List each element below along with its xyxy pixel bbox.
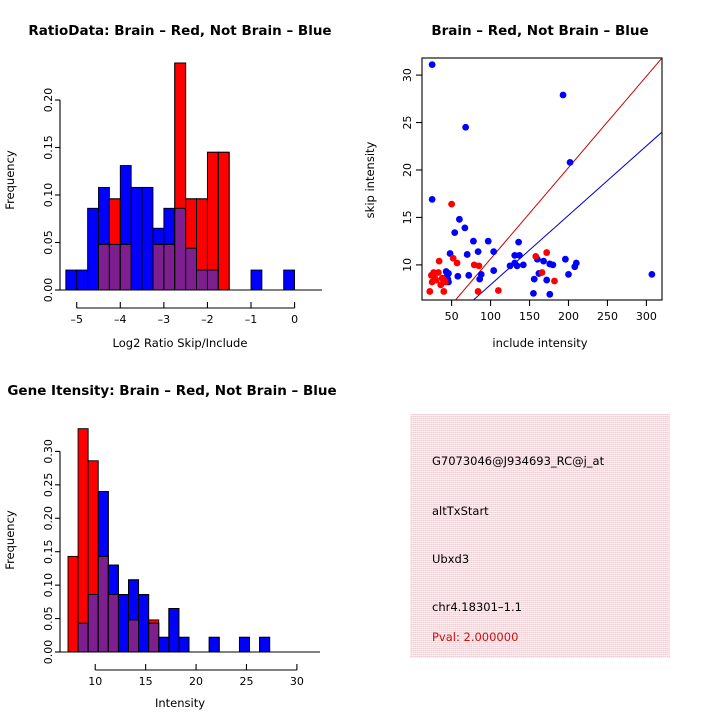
brain-fit-line [456, 58, 662, 300]
histogram-series-overlay [78, 492, 270, 652]
x-axis-tick-label: 100 [480, 310, 501, 323]
scatter-point [571, 263, 578, 270]
x-axis-tick-label: –2 [201, 313, 214, 326]
scatter-point [485, 238, 492, 245]
histogram-bar-overlap [98, 556, 108, 652]
histogram-bar [260, 637, 270, 652]
x-axis-tick-label: 15 [139, 675, 153, 688]
histogram-bar [139, 595, 149, 653]
scatter-point [470, 238, 477, 245]
ratio-plot-area: 0.000.050.100.150.20–5–4–3–2–10 [42, 63, 322, 326]
histogram-bar [109, 199, 120, 245]
info-gene-symbol: Ubxd3 [432, 552, 469, 566]
scatter-svg: Brain – Red, Not Brain – Blue 1015202530… [360, 0, 720, 360]
x-axis-tick-label: 10 [88, 675, 102, 688]
scatter-point [461, 224, 468, 231]
histogram-bar [77, 270, 88, 290]
histogram-bar-overlap [175, 208, 186, 290]
gene-histogram-svg: Gene Itensity: Brain – Red, Not Brain – … [0, 360, 360, 720]
scatter-x-axis-label: include intensity [492, 336, 587, 350]
scatter-point [454, 260, 461, 267]
y-axis-tick-label: 0.05 [42, 230, 55, 255]
histogram-bar [207, 152, 218, 270]
ratio-histogram-svg: RatioData: Brain – Red, Not Brain – Blue… [0, 0, 360, 360]
scatter-point [516, 252, 523, 259]
x-axis-tick-label: –5 [70, 313, 83, 326]
scatter-point [454, 273, 461, 280]
scatter-point [475, 288, 482, 295]
y-axis-tick-label: 25 [401, 116, 414, 130]
scatter-point [451, 229, 458, 236]
scatter-point [490, 267, 497, 274]
histogram-bar [68, 556, 78, 652]
panel-ratio-histogram: RatioData: Brain – Red, Not Brain – Blue… [0, 0, 360, 360]
histogram-bar [218, 152, 229, 290]
scatter-point [562, 256, 569, 263]
histogram-bar-overlap [78, 623, 88, 652]
y-axis-tick-label: 0.30 [42, 439, 55, 464]
scatter-point [539, 269, 546, 276]
scatter-point [540, 258, 547, 265]
scatter-point [546, 291, 553, 298]
gene-y-axis-label: Frequency [3, 510, 17, 570]
scatter-point [429, 279, 436, 286]
histogram-bar-overlap [164, 244, 175, 290]
panel-gene-info: G7073046@J934693_RC@j_at altTxStart Ubxd… [360, 360, 720, 720]
ratio-x-axis-label: Log2 Ratio Skip/Include [113, 336, 248, 350]
histogram-bar-overlap [197, 270, 208, 290]
histogram-bar-overlap [99, 244, 110, 290]
histogram-bar-overlap [153, 244, 164, 290]
scatter-point [515, 239, 522, 246]
scatter-point [551, 278, 558, 285]
x-axis-tick-label: –3 [158, 313, 171, 326]
scatter-point [543, 249, 550, 256]
scatter-point [550, 261, 557, 268]
scatter-point [440, 288, 447, 295]
ratio-panel-title: RatioData: Brain – Red, Not Brain – Blue [28, 23, 331, 39]
scatter-point [429, 196, 436, 203]
histogram-bar-overlap [129, 620, 139, 652]
scatter-point [475, 262, 482, 269]
scatter-point [543, 277, 550, 284]
y-axis-tick-label: 0.00 [42, 640, 55, 665]
info-probe-id: G7073046@J934693_RC@j_at [432, 454, 604, 468]
gene-info-box: G7073046@J934693_RC@j_at altTxStart Ubxd… [410, 414, 670, 658]
y-axis-tick-label: 0.10 [42, 573, 55, 598]
scatter-point [648, 271, 655, 278]
x-axis-tick-label: 200 [558, 310, 579, 323]
gene-x-axis-label: Intensity [155, 696, 205, 710]
x-axis-tick-label: 0 [291, 313, 298, 326]
histogram-bar [78, 429, 88, 652]
x-axis-tick-label: 25 [239, 675, 253, 688]
scatter-point [490, 248, 497, 255]
histogram-bar-overlap [120, 244, 131, 290]
scatter-point [437, 281, 444, 288]
histogram-bar [88, 208, 99, 290]
x-axis-tick-label: 150 [519, 310, 540, 323]
histogram-bar [209, 637, 219, 652]
gene-panel-title: Gene Itensity: Brain – Red, Not Brain – … [7, 383, 336, 399]
y-axis-tick-label: 30 [401, 68, 414, 82]
info-event-type: altTxStart [432, 504, 489, 518]
histogram-bar [169, 609, 179, 652]
scatter-point [532, 253, 539, 260]
histogram-bar [108, 565, 118, 594]
histogram-bar [129, 580, 139, 620]
x-axis-tick-label: 30 [290, 675, 304, 688]
scatter-point [565, 271, 572, 278]
gene-plot-area: 0.000.050.100.150.200.250.301015202530 [42, 429, 320, 688]
histogram-bar-overlap [108, 595, 118, 653]
y-axis-tick-label: 20 [401, 163, 414, 177]
scatter-point [456, 216, 463, 223]
y-axis-tick-label: 15 [401, 210, 414, 224]
ratio-y-axis-label: Frequency [3, 150, 17, 210]
y-axis-tick-label: 0.15 [42, 539, 55, 564]
x-axis-tick-label: 50 [445, 310, 459, 323]
scatter-point [475, 248, 482, 255]
histogram-bar [251, 270, 262, 290]
scatter-point [464, 251, 471, 258]
scatter-point [448, 201, 455, 208]
scatter-point [465, 272, 472, 279]
scatter-point [520, 261, 527, 268]
y-axis-tick-label: 0.00 [42, 278, 55, 303]
x-axis-tick-label: –4 [114, 313, 127, 326]
histogram-bar [142, 187, 153, 290]
scatter-point [436, 258, 443, 265]
x-axis-tick-label: 250 [597, 310, 618, 323]
histogram-bar-overlap [207, 270, 218, 290]
y-axis-tick-label: 0.05 [42, 606, 55, 631]
histogram-bar-overlap [186, 248, 197, 290]
histogram-bar [66, 270, 77, 290]
scatter-point [567, 159, 574, 166]
histogram-bar [159, 637, 169, 652]
histogram-series-overlay [99, 63, 230, 290]
histogram-bar [98, 492, 108, 557]
panel-gene-intensity-histogram: Gene Itensity: Brain – Red, Not Brain – … [0, 360, 360, 720]
histogram-bar-overlap [88, 595, 98, 653]
info-locus: chr4.18301–1.1 [432, 600, 522, 614]
x-axis-tick-label: 300 [636, 310, 657, 323]
scatter-point [429, 61, 436, 68]
scatter-point [530, 290, 537, 297]
y-axis-tick-label: 0.20 [42, 506, 55, 531]
x-axis-tick-label: –1 [245, 313, 258, 326]
scatter-point [495, 287, 502, 294]
histogram-bar [239, 637, 249, 652]
histogram-bar [197, 199, 208, 270]
scatter-point [462, 124, 469, 131]
y-axis-tick-label: 0.15 [42, 135, 55, 160]
scatter-point [531, 276, 538, 283]
histogram-bar-overlap [109, 244, 120, 290]
histogram-bar-overlap [149, 623, 159, 652]
y-axis-tick-label: 10 [401, 258, 414, 272]
histogram-bar [186, 199, 197, 248]
figure-canvas: RatioData: Brain – Red, Not Brain – Blue… [0, 0, 720, 720]
scatter-point [514, 262, 521, 269]
y-axis-tick-label: 0.20 [42, 88, 55, 113]
histogram-bar [284, 270, 295, 290]
histogram-bar [118, 595, 128, 653]
info-pval: Pval: 2.000000 [432, 630, 518, 644]
panel-intensity-scatter: Brain – Red, Not Brain – Blue 1015202530… [360, 0, 720, 360]
histogram-bar [131, 187, 142, 290]
x-axis-tick-label: 20 [189, 675, 203, 688]
scatter-plot-area: 101520253050100150200250300 [401, 58, 662, 323]
histogram-bar [179, 637, 189, 652]
scatter-panel-title: Brain – Red, Not Brain – Blue [431, 23, 648, 39]
y-axis-tick-label: 0.10 [42, 183, 55, 208]
scatter-point [560, 92, 567, 99]
scatter-y-axis-label: skip intensity [363, 141, 377, 218]
scatter-point [476, 276, 483, 283]
scatter-point [426, 288, 433, 295]
histogram-bar [175, 63, 186, 208]
scatter-points-group [426, 58, 662, 300]
y-axis-tick-label: 0.25 [42, 473, 55, 498]
